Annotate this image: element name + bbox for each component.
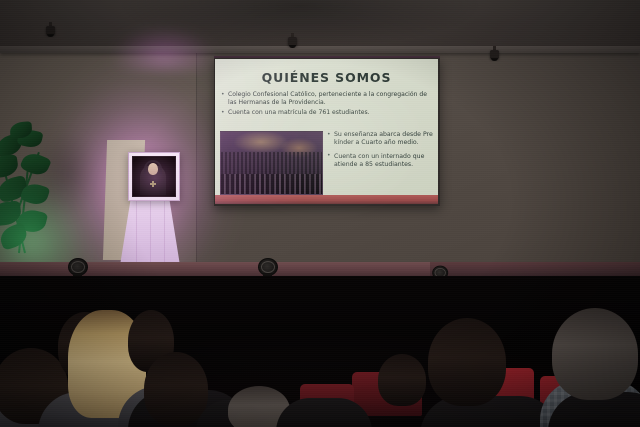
audience-member-head — [144, 352, 208, 426]
ceiling-spotlight-icon — [286, 33, 299, 49]
nun-portrait-icon — [132, 156, 174, 195]
audience-member-head — [378, 354, 426, 406]
audience-member-head — [552, 308, 638, 400]
projector-light-spill — [196, 48, 466, 238]
ceiling-spotlight-icon — [488, 46, 501, 62]
stage-par-light-icon — [258, 256, 280, 276]
audience-member-head — [428, 318, 506, 406]
stage-par-light-icon — [68, 256, 90, 276]
auditorium-photo: QUIÉNES SOMOS Colegio Confesional Católi… — [0, 0, 640, 427]
